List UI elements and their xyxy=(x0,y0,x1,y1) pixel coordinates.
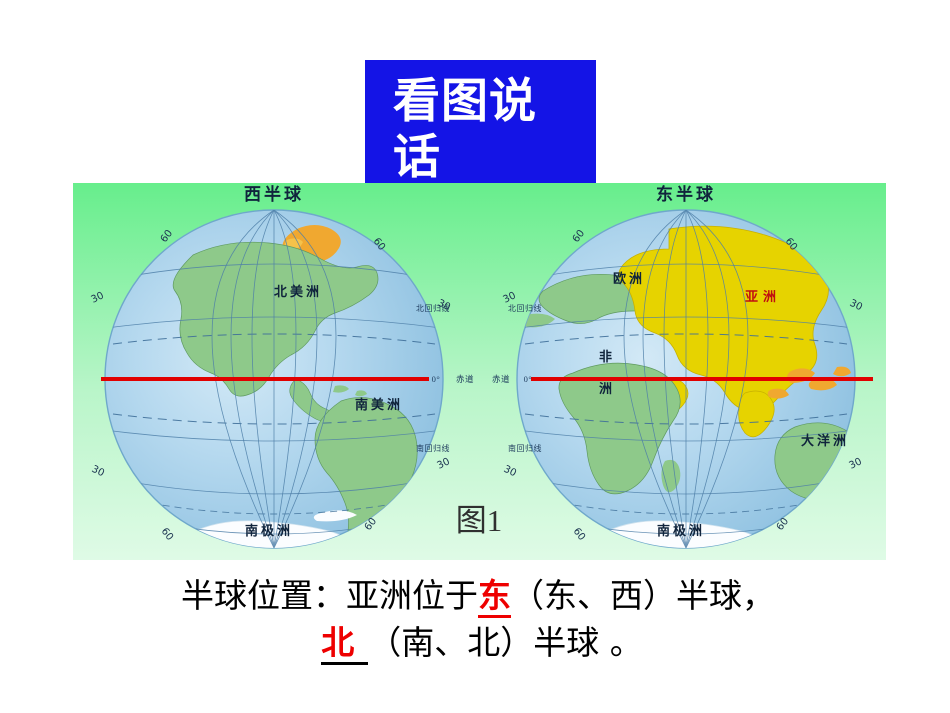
caption-line2-suffix: （南、北）半球 。 xyxy=(368,623,643,662)
answer-blank-east: 东 xyxy=(478,576,511,618)
label-tropic-capricorn-right: 南回归线 xyxy=(508,443,542,453)
label-oceania: 大洋洲 xyxy=(801,433,849,449)
caption-line1-prefix: 半球位置：亚洲位于 xyxy=(181,576,478,615)
label-equator-name-left: 赤道 xyxy=(456,374,474,384)
answer-caption-block: 半球位置：亚洲位于东（东、西）半球， 北（南、北）半球 。 xyxy=(0,572,950,666)
label-equator-degree-right: 0° xyxy=(524,374,533,384)
label-tropic-capricorn-left: 南回归线 xyxy=(416,443,450,453)
slide-title: 看图说话 xyxy=(393,74,583,186)
west-hemisphere-title: 西半球 xyxy=(244,184,304,205)
figure-caption: 图1 xyxy=(456,503,503,538)
label-antarctica-east: 南极洲 xyxy=(657,523,705,539)
label-africa-char-bottom: 洲 xyxy=(599,382,615,397)
answer-blank-north: 北 xyxy=(321,623,368,665)
caption-line1-suffix: （东、西）半球， xyxy=(511,576,775,615)
label-africa-char-top: 非 xyxy=(599,349,615,365)
caption-line-2: 北（南、北）半球 。 xyxy=(0,619,950,666)
label-tropic-cancer-right: 北回归线 xyxy=(508,303,542,313)
caption-line-1: 半球位置：亚洲位于东（东、西）半球， xyxy=(0,572,950,619)
label-europe: 欧洲 xyxy=(613,271,645,287)
label-north-america: 北美洲 xyxy=(274,284,322,300)
label-tropic-cancer-left: 北回归线 xyxy=(416,303,450,313)
title-banner: 看图说话 xyxy=(365,60,596,183)
label-equator-name-right: 赤道 xyxy=(492,374,510,384)
east-hemisphere-title: 东半球 xyxy=(656,184,716,205)
label-south-america: 南美洲 xyxy=(355,397,403,413)
hemispheres-map-figure: 西半球 北美洲 南美洲 南极洲 60 30 30 60 30 60 30 60 xyxy=(73,183,886,560)
label-antarctica-west: 南极洲 xyxy=(245,523,293,539)
label-asia: 亚洲 xyxy=(745,289,781,304)
label-equator-degree-left: 0° xyxy=(432,374,441,384)
